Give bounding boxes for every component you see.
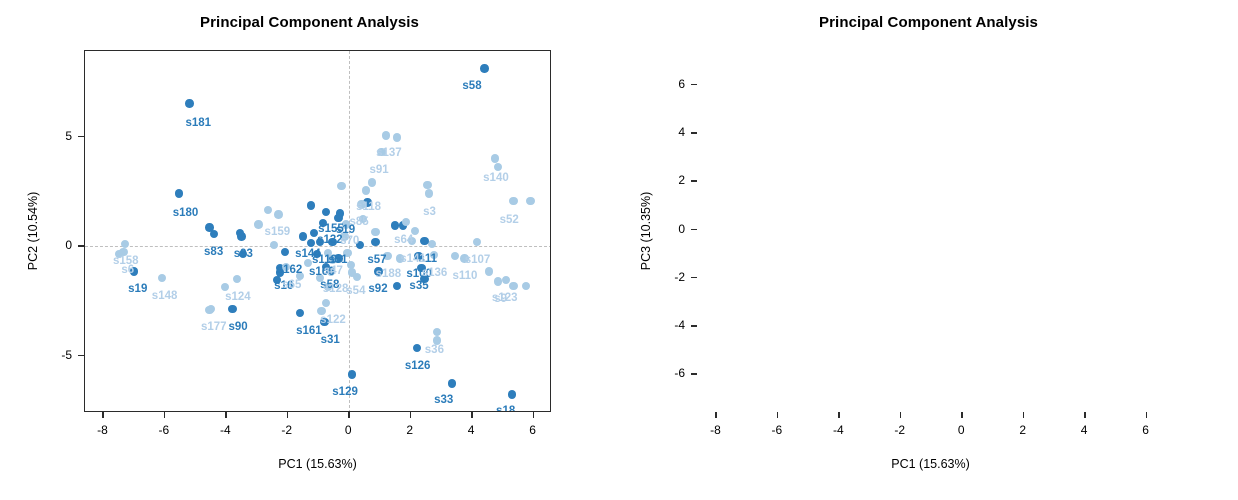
data-point [336, 209, 344, 217]
y-axis-tick-label: 2 [659, 173, 685, 187]
y-axis-tick-label: 0 [46, 238, 72, 252]
x-axis-tick [1084, 412, 1086, 418]
point-label: s159 [265, 227, 291, 239]
x-axis-tick-label: 2 [1019, 423, 1026, 437]
y-axis-tick-label: 6 [659, 77, 685, 91]
y-axis-tick-label: -2 [659, 270, 685, 284]
x-axis-tick [900, 412, 902, 418]
point-label: s54 [346, 286, 365, 298]
point-label: s92 [368, 284, 387, 296]
x-axis-tick [410, 412, 412, 418]
x-axis-title: PC1 (15.63%) [278, 457, 357, 471]
x-axis-tick-label: -4 [220, 423, 231, 437]
data-point [413, 344, 421, 352]
data-point [371, 228, 379, 236]
data-point [393, 282, 401, 290]
data-point [433, 328, 441, 336]
point-label: s83 [204, 247, 223, 259]
pca-panel-pc1-pc2: Principal Component Analysis s58s181s137… [0, 0, 619, 500]
point-label: s65 [282, 280, 301, 292]
point-label: s118 [356, 202, 381, 214]
data-point [371, 238, 379, 246]
point-label: s188 [376, 269, 402, 281]
data-point [254, 220, 262, 228]
data-point [210, 230, 218, 238]
point-label: s9 [494, 294, 507, 306]
data-point [233, 275, 241, 283]
x-axis-tick [777, 412, 779, 418]
y-axis-tick [691, 229, 697, 231]
data-point [480, 64, 488, 72]
data-point [368, 178, 376, 186]
data-point [221, 283, 229, 291]
data-point [382, 131, 390, 139]
panel-title-right: Principal Component Analysis [619, 14, 1238, 31]
point-label: s6 [121, 265, 134, 277]
data-point [175, 189, 183, 197]
data-point [508, 390, 516, 398]
data-point [281, 248, 289, 256]
point-label: s162 [277, 265, 303, 277]
x-axis-tick-label: -2 [281, 423, 292, 437]
data-point [228, 305, 236, 313]
data-point [451, 252, 459, 260]
y-axis-title: PC2 (10.54%) [26, 192, 40, 271]
point-label: s31 [321, 335, 340, 347]
pca-panel-pc1-pc3: Principal Component Analysis s18s33s31s1… [619, 0, 1238, 500]
y-axis-tick [691, 132, 697, 134]
point-label: s93 [234, 249, 253, 261]
x-axis-tick [225, 412, 227, 418]
data-point [296, 309, 304, 317]
y-axis-tick [691, 277, 697, 279]
data-point [485, 267, 493, 275]
point-label: s129 [332, 387, 358, 399]
y-axis-tick-label: 4 [659, 125, 685, 139]
x-axis-tick-label: 2 [406, 423, 413, 437]
y-axis-tick-label: -6 [659, 366, 685, 380]
point-label: s181 [185, 118, 211, 130]
x-axis-tick [164, 412, 166, 418]
y-axis-tick [691, 325, 697, 327]
point-label: s91 [369, 165, 388, 177]
x-axis-tick [287, 412, 289, 418]
point-label: s128 [323, 284, 349, 296]
point-label: s36 [425, 345, 444, 357]
y-axis-tick [691, 180, 697, 182]
data-point [307, 239, 315, 247]
x-axis-tick-label: 6 [1142, 423, 1149, 437]
data-point [522, 282, 530, 290]
point-label: s124 [225, 292, 251, 304]
data-point [420, 237, 428, 245]
point-label: s35 [409, 281, 428, 293]
point-label: s70 [340, 236, 359, 248]
x-axis-tick-label: 0 [345, 423, 352, 437]
x-axis-tick [102, 412, 104, 418]
y-axis-tick-label: -5 [46, 348, 72, 362]
x-axis-tick-label: -8 [97, 423, 108, 437]
y-axis-tick [691, 84, 697, 86]
point-label: s47 [324, 266, 343, 278]
point-label: s126 [405, 361, 431, 373]
x-axis-tick-label: -2 [894, 423, 905, 437]
data-point [448, 379, 456, 387]
point-label: s52 [500, 215, 519, 227]
y-axis-tick-label: 0 [659, 222, 685, 236]
point-label: s137 [376, 148, 402, 160]
x-axis-tick [471, 412, 473, 418]
point-label: s122 [320, 315, 346, 327]
data-point [307, 201, 315, 209]
x-axis-tick [961, 412, 963, 418]
data-point [274, 210, 282, 218]
point-label: s57 [367, 255, 386, 267]
data-point [237, 232, 245, 240]
x-axis-tick [715, 412, 717, 418]
data-point [337, 182, 345, 190]
x-axis-tick-label: 4 [1081, 423, 1088, 437]
data-point [509, 197, 517, 205]
point-label: s148 [152, 291, 178, 303]
point-label: s64 [394, 235, 413, 247]
data-point [270, 241, 278, 249]
point-label: s140 [483, 173, 509, 185]
data-point [362, 186, 370, 194]
data-point [491, 154, 499, 162]
y-axis-tick [78, 355, 84, 357]
data-point [299, 232, 307, 240]
panel-title-left: Principal Component Analysis [0, 14, 619, 31]
data-point [509, 282, 517, 290]
x-axis-tick-label: -6 [772, 423, 783, 437]
data-point [494, 277, 502, 285]
y-axis-title: PC3 (10.35%) [639, 192, 653, 271]
point-label: s136 [422, 268, 448, 280]
x-axis-tick-label: 4 [468, 423, 475, 437]
data-point [473, 238, 481, 246]
x-axis-tick [348, 412, 350, 418]
x-axis-tick-label: -6 [159, 423, 170, 437]
pca-figure: Principal Component Analysis s58s181s137… [0, 0, 1238, 500]
y-axis-tick-label: -4 [659, 318, 685, 332]
x-axis-tick [1023, 412, 1025, 418]
x-axis-tick [838, 412, 840, 418]
y-axis-tick [78, 136, 84, 138]
data-point [322, 299, 330, 307]
y-axis-tick [78, 245, 84, 247]
point-label: s19 [128, 284, 147, 296]
data-point [185, 99, 193, 107]
data-point [423, 181, 431, 189]
point-label: s58 [462, 81, 481, 93]
point-label: s90 [228, 322, 247, 334]
point-label: s180 [173, 208, 199, 220]
data-point [158, 274, 166, 282]
y-axis-tick [691, 373, 697, 375]
point-label: s107 [465, 255, 491, 267]
x-axis-tick-label: 0 [958, 423, 965, 437]
plot-frame-left: s58s181s137s91s140s180s118s3s52s85s159s1… [84, 50, 551, 412]
data-point [207, 305, 215, 313]
data-point [425, 189, 433, 197]
x-axis-tick-label: -4 [833, 423, 844, 437]
x-axis-title: PC1 (15.63%) [891, 457, 970, 471]
data-point [322, 208, 330, 216]
x-axis-tick [1146, 412, 1148, 418]
point-label: s161 [296, 326, 322, 338]
point-label: s3 [423, 207, 436, 219]
data-point [348, 370, 356, 378]
point-label: s177 [201, 322, 227, 334]
data-point [393, 133, 401, 141]
data-point [264, 206, 272, 214]
point-label: s132 [317, 235, 343, 247]
point-label: s18 [496, 406, 515, 412]
x-axis-tick [533, 412, 535, 418]
x-axis-tick-label: 6 [529, 423, 536, 437]
x-axis-tick-label: -8 [710, 423, 721, 437]
point-label: s110 [452, 271, 477, 283]
data-point [402, 218, 410, 226]
point-label: s33 [434, 395, 453, 407]
data-point [526, 197, 534, 205]
point-label: s141 [400, 254, 426, 266]
data-point [494, 163, 502, 171]
y-axis-tick-label: 5 [46, 129, 72, 143]
